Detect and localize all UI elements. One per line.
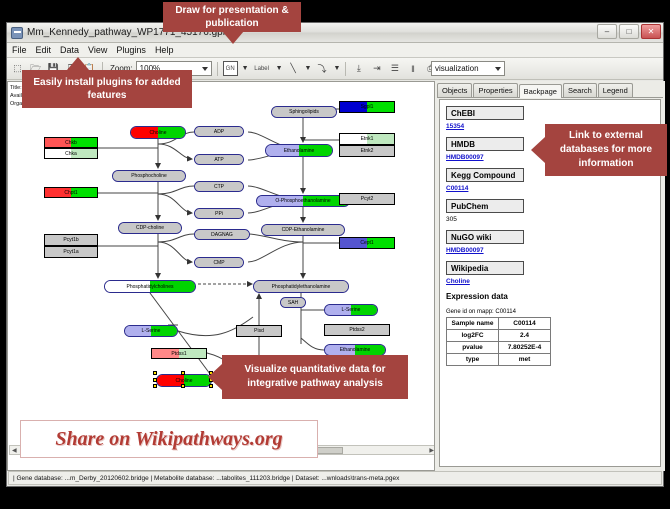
selection-handle-0[interactable] [153, 371, 157, 375]
gene-node-pisd[interactable]: Pisd [236, 325, 282, 337]
node-label: Choline [176, 378, 193, 384]
node-label: Phosphatidylcholines [127, 284, 174, 290]
tab-backpage[interactable]: Backpage [519, 84, 562, 98]
expr-cell-3-1: met [499, 354, 551, 366]
side-panel-tabs: Objects Properties Backpage Search Legen… [437, 83, 663, 98]
node-label: L-Serine [342, 307, 361, 313]
menu-file[interactable]: File [12, 45, 27, 55]
db-link-2[interactable]: C00114 [446, 185, 660, 192]
node-label: Phosphocholine [131, 173, 167, 179]
pathway-node-cmp[interactable]: CMP [194, 257, 244, 268]
selection-handle-5[interactable] [153, 384, 157, 388]
callout-plugins: Easily install plugins for added feature… [22, 70, 192, 108]
menubar: File Edit Data View Plugins Help [7, 43, 663, 58]
node-label: ADP [214, 129, 224, 135]
close-button[interactable]: ✕ [641, 24, 661, 39]
pathway-node-ppi[interactable]: PPi [194, 208, 244, 219]
minimize-button[interactable]: – [597, 24, 617, 39]
table-row: pvalue7.80252E-4 [447, 342, 551, 354]
pathway-canvas[interactable]: Title: Availa Organi [7, 81, 435, 471]
gene-label: Pcyt1a [63, 249, 78, 255]
pathway-node-cdp-ethanolamine[interactable]: CDP-Ethanolamine [261, 224, 345, 236]
callout-external-db-arrow [531, 137, 545, 163]
gene-label: Pcyt2 [361, 196, 374, 202]
gene-label: Etnk2 [361, 148, 374, 154]
app-icon [11, 27, 23, 39]
interaction-icon[interactable]: ⤵ [314, 61, 329, 76]
pathway-node-sphingolipids[interactable]: Sphingolipids [271, 106, 337, 118]
tab-legend[interactable]: Legend [598, 83, 633, 97]
node-label: Phosphatidylethanolamine [272, 284, 331, 290]
gene-label: Chkb [65, 140, 77, 146]
table-row: Sample nameC00114 [447, 318, 551, 330]
screenshot-root: Mm_Kennedy_pathway_WP1771_45176.gpml – □… [0, 0, 670, 509]
node-label: Sphingolipids [289, 109, 319, 115]
label-dropdown-icon[interactable]: ▼ [276, 65, 283, 72]
scroll-right-icon[interactable]: ▶ [427, 447, 435, 454]
gene-node-pcyt2[interactable]: Pcyt2 [339, 193, 395, 205]
tab-properties[interactable]: Properties [473, 83, 517, 97]
gene-node-ptdss1[interactable]: Ptdss1 [151, 348, 207, 359]
menu-data[interactable]: Data [60, 45, 79, 55]
db-header-0: ChEBI [446, 106, 524, 120]
callout-quantitative: Visualize quantitative data for integrat… [222, 355, 408, 399]
align-bottom-icon[interactable]: ⤓ [351, 61, 366, 76]
tab-search[interactable]: Search [563, 83, 597, 97]
table-row: log2FC2.4 [447, 330, 551, 342]
align-left-icon[interactable]: ⇥ [369, 61, 384, 76]
node-label: CMP [213, 260, 224, 266]
menu-edit[interactable]: Edit [36, 45, 52, 55]
db-link-5[interactable]: Choline [446, 278, 660, 285]
db-header-1: HMDB [446, 137, 524, 151]
gene-label: Ptdss1 [171, 351, 186, 357]
gene-node-chkb[interactable]: Chkb [44, 137, 98, 148]
datanode-dropdown-icon[interactable]: ▼ [242, 65, 249, 72]
line-dropdown-icon[interactable]: ▼ [305, 65, 312, 72]
gene-id-line: Gene id on mapp: C00114 [446, 309, 660, 315]
callout-plugins-arrow [67, 57, 89, 70]
pathway-node-l-serine-right[interactable]: L-Serine [324, 304, 378, 316]
gene-label: Chka [65, 151, 77, 157]
node-label: Choline [150, 130, 167, 136]
expression-data-title: Expression data [446, 292, 660, 301]
menu-view[interactable]: View [88, 45, 107, 55]
expr-cell-0-0: Sample name [447, 318, 499, 330]
node-label: CTP [214, 184, 224, 190]
toolbar-separator-3 [345, 62, 346, 76]
db-header-3: PubChem [446, 199, 524, 213]
pathway-node-cdp-choline[interactable]: CDP-choline [118, 222, 182, 234]
node-label: Ethanolamine [340, 347, 371, 353]
expression-table: Sample nameC00114log2FC2.4pvalue7.80252E… [446, 317, 551, 366]
share-text: Share on Wikipathways.org [55, 428, 282, 451]
gene-node-sgpl1[interactable]: Sgpl1 [339, 101, 395, 113]
expr-cell-0-1: C00114 [499, 318, 551, 330]
callout-share: Share on Wikipathways.org [20, 420, 318, 458]
gene-label: Chpt1 [64, 190, 77, 196]
db-link-4[interactable]: HMDB00097 [446, 247, 660, 254]
node-label: CDP-choline [136, 225, 164, 231]
maximize-button[interactable]: □ [619, 24, 639, 39]
pathway-node-ctp[interactable]: CTP [194, 181, 244, 192]
expr-cell-1-1: 2.4 [499, 330, 551, 342]
pathway-node-atp[interactable]: ATP [194, 154, 244, 165]
menu-plugins[interactable]: Plugins [116, 45, 146, 55]
selection-handle-1[interactable] [181, 371, 185, 375]
callout-quantitative-arrow [208, 364, 222, 390]
status-bar: | Gene database: ...m_Derby_20120602.bri… [8, 471, 662, 485]
node-label: SAH [288, 300, 298, 306]
tab-objects[interactable]: Objects [437, 83, 472, 97]
gene-node-etnk1[interactable]: Etnk1 [339, 133, 395, 145]
node-label: Ethanolamine [284, 148, 315, 154]
visualization-combo[interactable]: visualization [431, 61, 505, 76]
label-icon[interactable]: Label [252, 61, 272, 76]
table-row: typemet [447, 354, 551, 366]
pathway-node-dagnag[interactable]: DAGNAG [194, 229, 250, 240]
toolbar-separator-2 [217, 62, 218, 76]
selection-handle-3[interactable] [153, 378, 157, 382]
chevron-down-icon [495, 67, 501, 71]
node-label: DAGNAG [211, 232, 233, 238]
gene-label: Ptdss2 [349, 327, 364, 333]
expr-cell-2-0: pvalue [447, 342, 499, 354]
expr-cell-1-0: log2FC [447, 330, 499, 342]
visualization-value: visualization [435, 64, 479, 73]
gene-label: Etnk1 [361, 136, 374, 142]
expr-cell-3-0: type [447, 354, 499, 366]
scroll-left-icon[interactable]: ◀ [10, 447, 19, 454]
selection-handle-6[interactable] [181, 384, 185, 388]
callout-external-db: Link to external databases for more info… [545, 124, 667, 176]
chevron-down-icon [202, 67, 208, 71]
node-label: L-Serine [142, 328, 161, 334]
pathway-node-phosphocholine[interactable]: Phosphocholine [112, 170, 186, 182]
node-label: CDP-Ethanolamine [282, 227, 325, 233]
gene-node-chpt1[interactable]: Chpt1 [44, 187, 98, 198]
callout-publication-arrow [222, 31, 244, 44]
node-label: PPi [215, 211, 223, 217]
gene-node-ptdss2[interactable]: Ptdss2 [324, 324, 390, 336]
pathway-node-choline-top[interactable]: Choline [130, 126, 186, 139]
pathway-node-phosphatidylcholine[interactable]: Phosphatidylcholines [104, 280, 196, 293]
gene-node-pcyt1a[interactable]: Pcyt1a [44, 246, 98, 258]
pathway-node-ethanolamine-top[interactable]: Ethanolamine [265, 144, 333, 157]
pathway-node-adp[interactable]: ADP [194, 126, 244, 137]
menu-help[interactable]: Help [155, 45, 174, 55]
callout-publication: Draw for presentation & publication [163, 2, 301, 32]
gene-node-etnk2[interactable]: Etnk2 [339, 145, 395, 157]
gene-node-chka[interactable]: Chka [44, 148, 98, 159]
pathway-node-o-phosphoethanol[interactable]: O-Phosphoethanolamine [256, 195, 350, 207]
db-header-5: Wikipedia [446, 261, 524, 275]
node-label: O-Phosphoethanolamine [275, 198, 330, 204]
distribute-h-icon[interactable]: ‖ [405, 61, 420, 76]
distribute-v-icon[interactable]: ☰ [387, 61, 402, 76]
db-header-2: Kegg Compound [446, 168, 524, 182]
gene-label: Pisd [254, 328, 264, 334]
db-value-3: 305 [446, 216, 660, 223]
window-titlebar: Mm_Kennedy_pathway_WP1771_45176.gpml – □… [7, 23, 663, 43]
gene-label: Pcyt1b [63, 237, 78, 243]
interaction-dropdown-icon[interactable]: ▼ [333, 65, 340, 72]
datanode-icon[interactable]: GN [223, 61, 238, 76]
expr-cell-2-1: 7.80252E-4 [499, 342, 551, 354]
pathway-node-l-serine-left[interactable]: L-Serine [124, 325, 178, 337]
pathway-node-phosphatidylethanol[interactable]: Phosphatidylethanolamine [253, 280, 349, 293]
gene-label: Cept1 [360, 240, 373, 246]
window-buttons: – □ ✕ [597, 24, 661, 39]
line-icon[interactable]: ╲ [286, 61, 301, 76]
db-header-4: NuGO wiki [446, 230, 524, 244]
gene-label: Sgpl1 [361, 104, 374, 110]
node-label: ATP [214, 157, 223, 163]
pathway-node-sah[interactable]: SAH [280, 297, 306, 308]
gene-node-cept1[interactable]: Cept1 [339, 237, 395, 249]
gene-node-pcyt1b[interactable]: Pcyt1b [44, 234, 98, 246]
